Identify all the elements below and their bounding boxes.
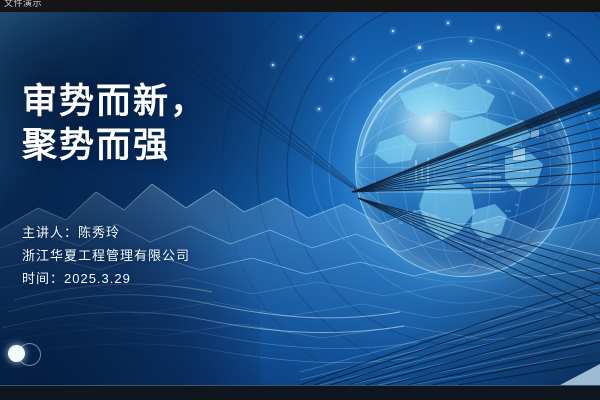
- slide-meta: 主讲人：陈秀玲 浙江华夏工程管理有限公司 时间：2025.3.29: [22, 221, 190, 290]
- meta-organization: 浙江华夏工程管理有限公司: [22, 244, 190, 267]
- slide-canvas: 审势而新， 聚势而强 主讲人：陈秀玲 浙江华夏工程管理有限公司 时间：2025.…: [0, 12, 600, 385]
- white-circle-marker: [8, 345, 25, 362]
- bottom-bar[interactable]: [0, 385, 600, 400]
- title-line-2: 聚势而强: [22, 124, 207, 168]
- meta-presenter: 主讲人：陈秀玲: [22, 221, 190, 244]
- title-line-1: 审势而新，: [22, 80, 207, 124]
- slide-title: 审势而新， 聚势而强: [22, 80, 207, 168]
- bottom-bar-edge: [0, 385, 600, 386]
- top-bar-label: 文件演示: [4, 0, 42, 9]
- top-app-bar[interactable]: 文件演示: [0, 0, 600, 12]
- dark-line-fan: [0, 12, 600, 385]
- presentation-viewer: 文件演示: [0, 0, 600, 400]
- meta-date: 时间：2025.3.29: [22, 267, 190, 290]
